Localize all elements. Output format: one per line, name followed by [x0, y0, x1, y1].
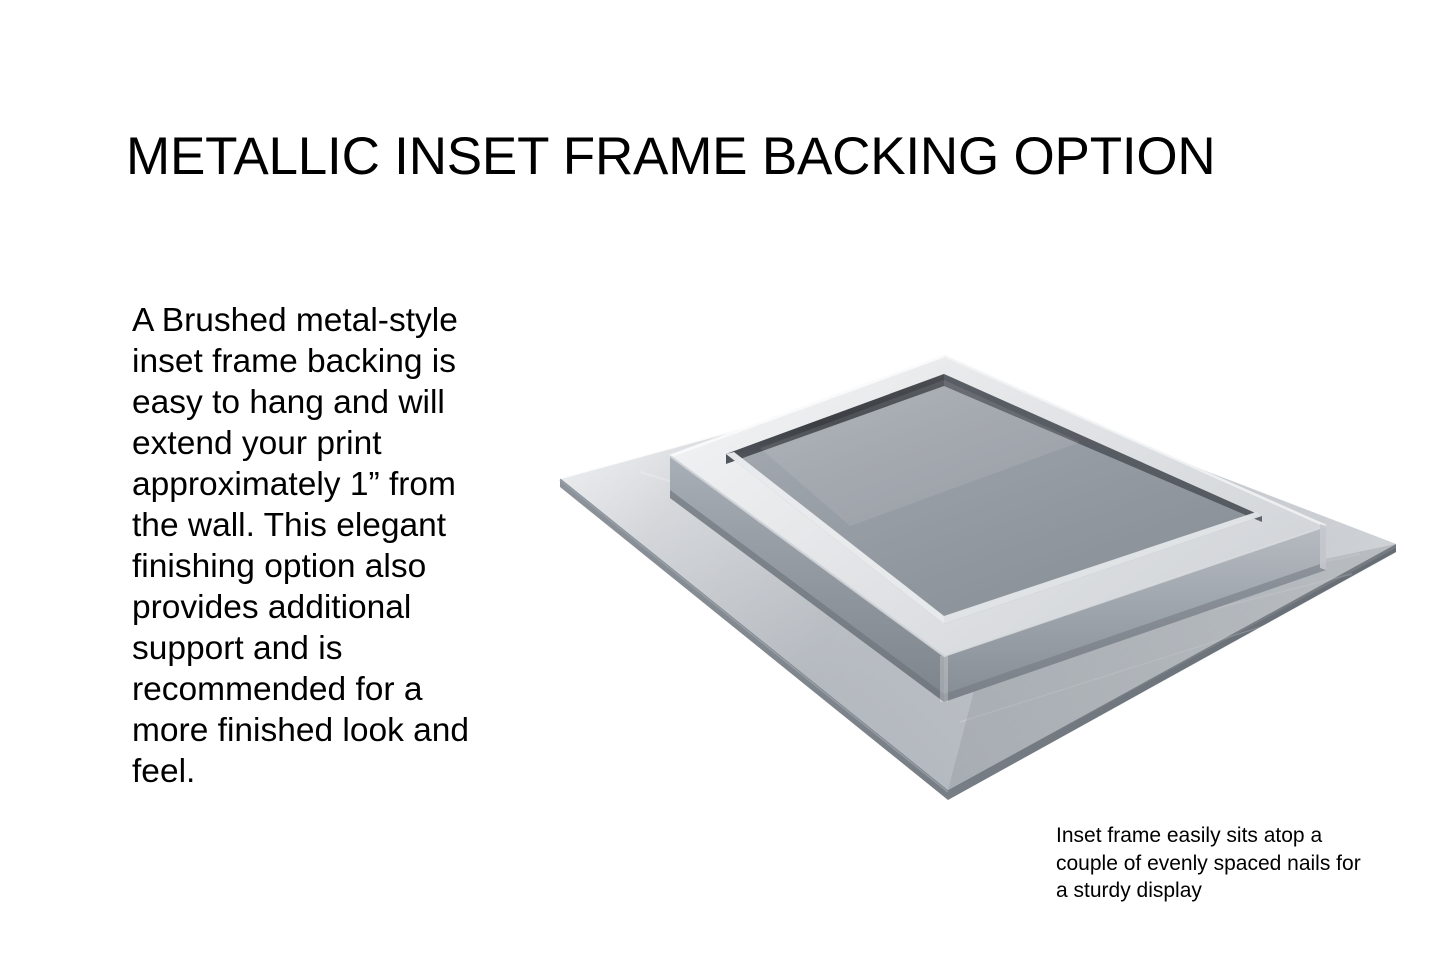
body-paragraph: A Brushed metal-style inset frame backin… — [132, 300, 482, 792]
page-title: METALLIC INSET FRAME BACKING OPTION — [126, 128, 1216, 186]
frame-right-corner-facet — [1320, 524, 1326, 570]
frame-near-corner-highlight — [940, 656, 948, 702]
metallic-inset-frame-illustration — [520, 330, 1425, 830]
figure-caption: Inset frame easily sits atop a couple of… — [1056, 822, 1366, 905]
slide-canvas: METALLIC INSET FRAME BACKING OPTION A Br… — [0, 0, 1445, 963]
